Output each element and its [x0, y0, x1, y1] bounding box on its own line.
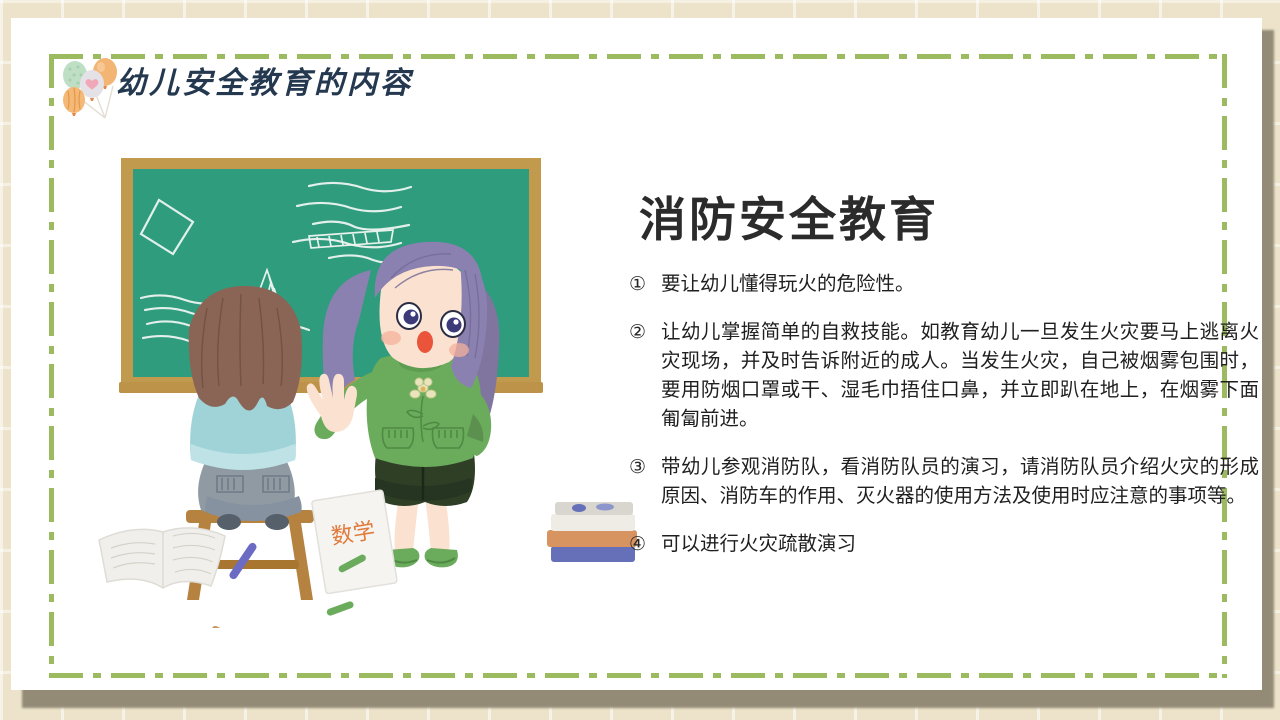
- bullet-list: ① 要让幼儿懂得玩火的危险性。 ② 让幼儿掌握简单的自救技能。如教育幼儿一旦发生…: [629, 270, 1259, 578]
- list-item: ④ 可以进行火灾疏散演习: [629, 530, 1259, 559]
- list-item: ② 让幼儿掌握简单的自救技能。如教育幼儿一旦发生火灾要马上逃离火灾现场，并及时告…: [629, 318, 1259, 434]
- page-title: 幼儿安全教育的内容: [116, 58, 413, 102]
- list-item-marker: ①: [629, 270, 661, 299]
- dashed-border-left: [49, 54, 54, 678]
- list-item-text: 带幼儿参观消防队，看消防队员的演习，请消防队员介绍火灾的形成原因、消防车的作用、…: [661, 453, 1259, 511]
- classroom-chalkboard-illustration: 数学: [81, 158, 641, 628]
- list-item-marker: ③: [629, 453, 661, 482]
- list-item: ① 要让幼儿懂得玩火的危险性。: [629, 270, 1259, 299]
- math-notebook: 数学: [311, 490, 397, 594]
- list-item-text: 让幼儿掌握简单的自救技能。如教育幼儿一旦发生火灾要马上逃离火灾现场，并及时告诉附…: [661, 318, 1259, 434]
- open-book: [99, 528, 225, 588]
- presentation-slide: 幼儿安全教育的内容: [0, 0, 1280, 720]
- list-item-text: 要让幼儿懂得玩火的危险性。: [661, 270, 1259, 299]
- list-item-text: 可以进行火灾疏散演习: [661, 530, 1259, 559]
- green-crayon-2: [326, 600, 355, 616]
- section-heading: 消防安全教育: [639, 181, 939, 250]
- list-item-marker: ②: [629, 318, 661, 347]
- book-stack: [547, 502, 637, 562]
- dashed-border-bottom: [49, 673, 1227, 678]
- orange-pencil: [211, 625, 257, 628]
- list-item: ③ 带幼儿参观消防队，看消防队员的演习，请消防队员介绍火灾的形成原因、消防车的作…: [629, 453, 1259, 511]
- list-item-marker: ④: [629, 530, 661, 559]
- slide-card: 幼儿安全教育的内容: [11, 18, 1262, 690]
